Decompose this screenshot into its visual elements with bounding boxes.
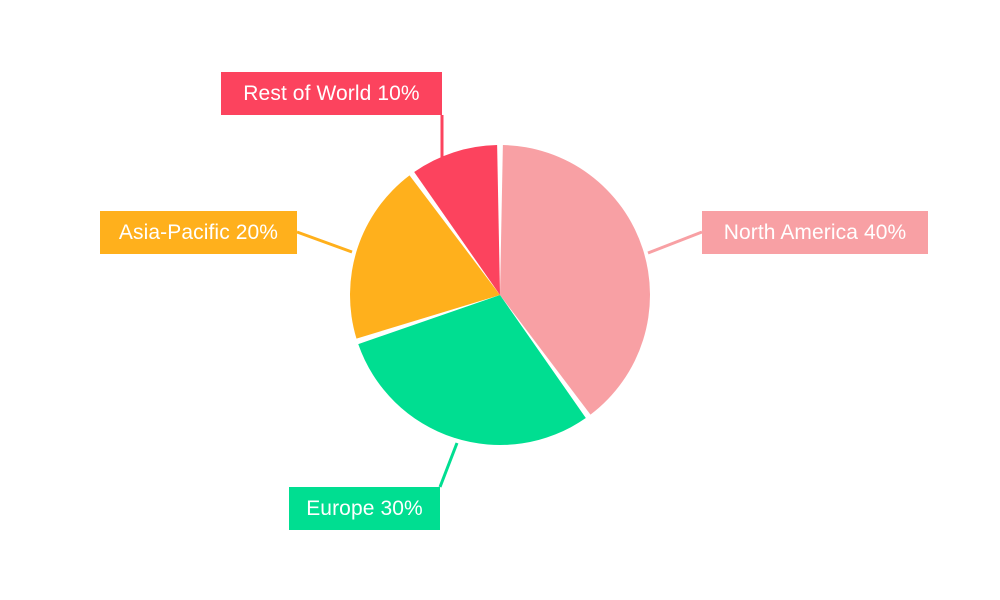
pie-chart: North America 40% Europe 30% Asia-Pacifi… (0, 0, 1000, 600)
leader-line-europe (440, 443, 457, 487)
leader-line-asia-pacific (297, 232, 352, 252)
pie-label-asia-pacific: Asia-Pacific 20% (100, 211, 297, 254)
pie-chart-svg (0, 0, 1000, 600)
pie-label-north-america: North America 40% (702, 211, 928, 254)
pie-slices (350, 145, 650, 445)
leader-line-north-america (648, 232, 702, 253)
pie-label-rest-of-world: Rest of World 10% (221, 72, 442, 115)
pie-label-europe: Europe 30% (289, 487, 440, 530)
